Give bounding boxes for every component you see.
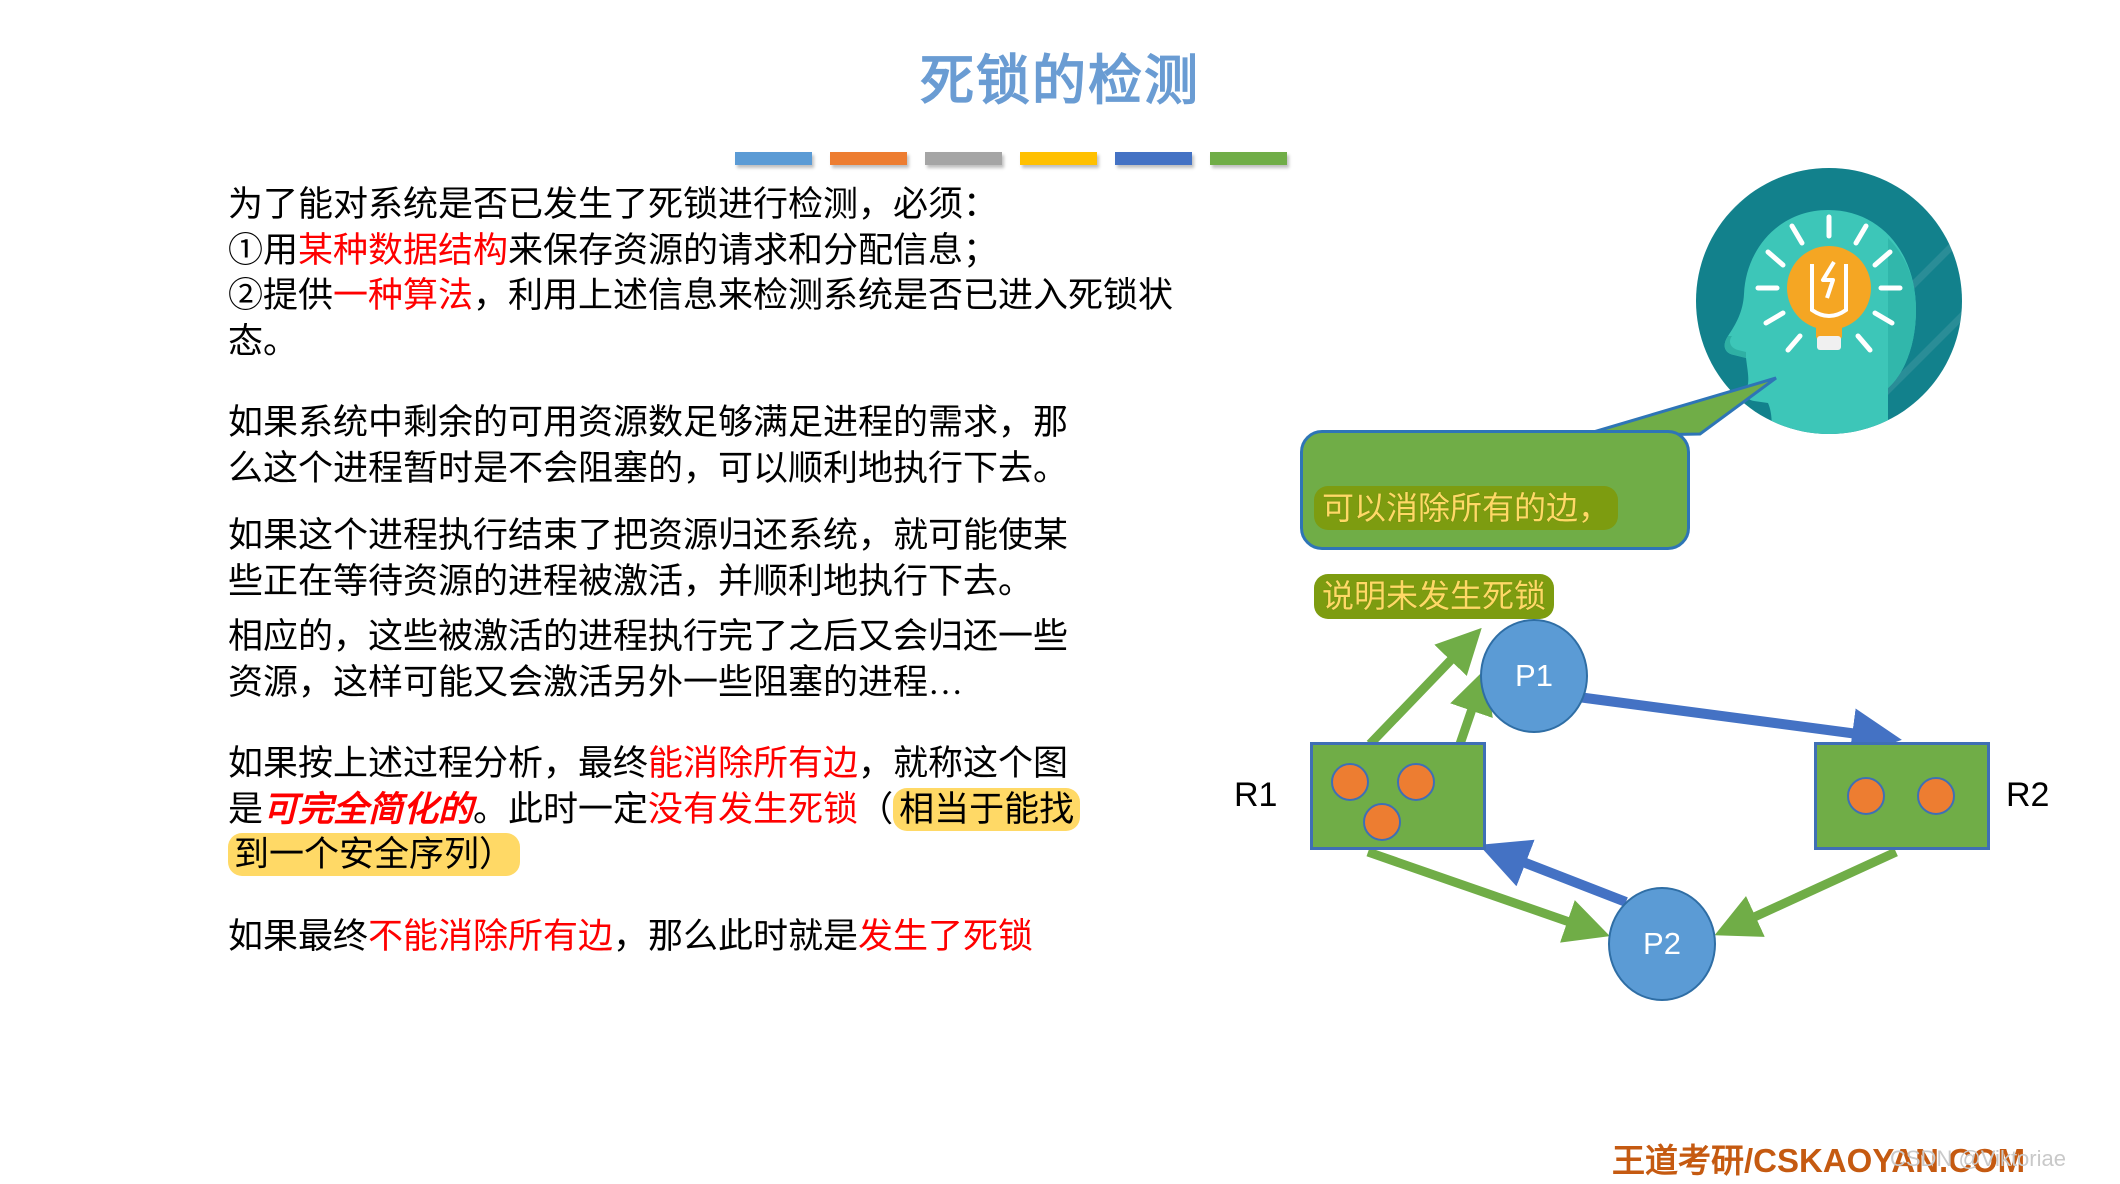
resource-allocation-graph: R1 R2 P1 P2 <box>1310 580 2120 1020</box>
divider-bar-orange <box>830 152 907 165</box>
edge-r1-to-p1-b <box>1460 680 1482 744</box>
p6-red-deadlock-happened: 发生了死锁 <box>858 917 1033 956</box>
divider-bar-green <box>1210 152 1287 165</box>
divider-bars <box>735 152 1287 165</box>
resource-label-r2: R2 <box>2006 776 2049 815</box>
intro3-pre: ②提供 <box>228 276 333 315</box>
speech-bubble-tail <box>1580 378 1780 438</box>
p6-red-cannot-remove-edges: 不能消除所有边 <box>368 917 613 956</box>
divider-bar-gray <box>925 152 1002 165</box>
speech-bubble: 可以消除所有的边， 说明未发生死锁 <box>1300 430 1690 550</box>
resource-label-r1: R1 <box>1234 776 1277 815</box>
paragraph-available-resources: 如果系统中剩余的可用资源数足够满足进程的需求，那 么这个进程暂时是不会阻塞的，可… <box>228 400 1238 491</box>
intro2-pre: ①用 <box>228 231 298 270</box>
p5-c: 是 <box>228 790 263 829</box>
spacer-2 <box>228 491 1238 513</box>
edge-p1-to-r2 <box>1578 697 1888 738</box>
p5-red-bold-italic: 可完全简化的 <box>263 790 473 829</box>
divider-bar-darkblue <box>1115 152 1192 165</box>
divider-bar-blue <box>735 152 812 165</box>
p5-e: （ <box>858 790 893 829</box>
r1-unit-3 <box>1363 803 1401 841</box>
p5-d: 。此时一定 <box>473 790 648 829</box>
bubble-line-1: 可以消除所有的边， <box>1314 486 1618 530</box>
intro3-red: 一种算法 <box>333 276 473 315</box>
divider-bar-yellow <box>1020 152 1097 165</box>
r1-unit-2 <box>1397 763 1435 801</box>
resource-node-r2[interactable] <box>1814 742 1990 850</box>
body-text-column: 为了能对系统是否已发生了死锁进行检测，必须： ①用某种数据结构来保存资源的请求和… <box>228 182 1238 959</box>
p5-red-remove-all-edges: 能消除所有边 <box>648 744 858 783</box>
lightbulb-base-icon <box>1817 336 1841 350</box>
edge-r1-to-p2 <box>1368 852 1598 932</box>
page-title: 死锁的检测 <box>0 36 2120 115</box>
edge-r2-to-p2 <box>1726 852 1896 930</box>
paragraph-intro-line1: 为了能对系统是否已发生了死锁进行检测，必须： <box>228 182 1238 228</box>
intro2-post: 来保存资源的请求和分配信息； <box>508 231 998 270</box>
spacer-5 <box>228 878 1238 914</box>
paragraph-release-resources: 如果这个进程执行结束了把资源归还系统，就可能使某 些正在等待资源的进程被激活，并… <box>228 513 1238 604</box>
r1-unit-1 <box>1331 763 1369 801</box>
process-node-p1[interactable]: P1 <box>1480 619 1588 733</box>
paragraph-cascade-activation: 相应的，这些被激活的进程执行完了之后又会归还一些 资源，这样可能又会激活另外一些… <box>228 614 1238 705</box>
spacer-1 <box>228 364 1238 400</box>
p5-red-no-deadlock: 没有发生死锁 <box>648 790 858 829</box>
p5-a: 如果按上述过程分析，最终 <box>228 744 648 783</box>
r2-unit-2 <box>1917 777 1955 815</box>
intro2-red: 某种数据结构 <box>298 231 508 270</box>
spacer-3 <box>228 604 1238 614</box>
edge-p2-to-r1 <box>1492 850 1626 902</box>
resource-node-r1[interactable] <box>1310 742 1486 850</box>
r2-unit-1 <box>1847 777 1885 815</box>
paragraph-intro-line2: ①用某种数据结构来保存资源的请求和分配信息； <box>228 228 1238 274</box>
watermark: CSDN @Viktoriae <box>1890 1146 2066 1172</box>
slide-root: 死锁的检测 为了能对系统是否已发生了死锁进行检测，必须： ①用某种数据结构来保存… <box>0 0 2120 1184</box>
paragraph-intro-line3: ②提供一种算法，利用上述信息来检测系统是否已进入死锁状态。 <box>228 273 1238 364</box>
spacer-4 <box>228 705 1238 741</box>
paragraph-fully-reducible: 如果按上述过程分析，最终能消除所有边，就称这个图是可完全简化的。此时一定没有发生… <box>228 741 1238 878</box>
p6-b: ，那么此时就是 <box>613 917 858 956</box>
edge-r1-to-p1-a <box>1370 637 1473 744</box>
p6-a: 如果最终 <box>228 917 368 956</box>
p5-b: ，就称这个图 <box>858 744 1068 783</box>
process-node-p2[interactable]: P2 <box>1608 887 1716 1001</box>
paragraph-deadlock-occurs: 如果最终不能消除所有边，那么此时就是发生了死锁 <box>228 914 1238 960</box>
